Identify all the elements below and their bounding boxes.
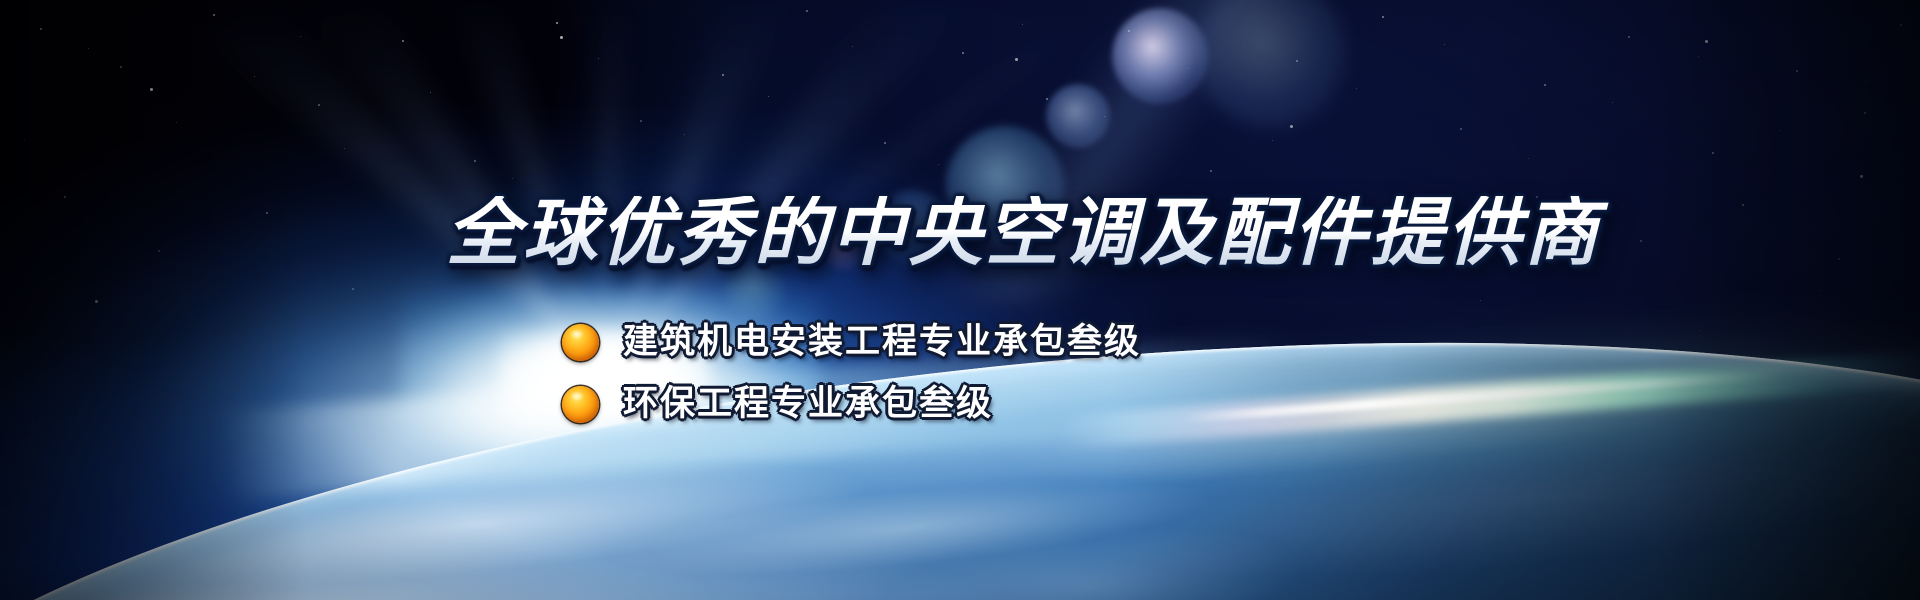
banner-bullet-list: 建筑机电安装工程专业承包叁级 环保工程专业承包叁级 (440, 314, 1740, 432)
bullet-item: 建筑机电安装工程专业承包叁级 (562, 314, 1740, 370)
hero-banner: 全球优秀的中央空调及配件提供商 建筑机电安装工程专业承包叁级 环保工程专业承包叁… (0, 0, 1920, 600)
bullet-item: 环保工程专业承包叁级 (562, 376, 1740, 432)
banner-copy: 全球优秀的中央空调及配件提供商 建筑机电安装工程专业承包叁级 环保工程专业承包叁… (440, 196, 1740, 438)
bullet-item-label: 环保工程专业承包叁级 (623, 387, 993, 422)
orange-bullet-dot-icon (562, 386, 599, 423)
bullet-item-label: 建筑机电安装工程专业承包叁级 (623, 325, 1141, 360)
orange-bullet-dot-icon (562, 324, 599, 361)
banner-headline: 全球优秀的中央空调及配件提供商 (440, 196, 1740, 270)
